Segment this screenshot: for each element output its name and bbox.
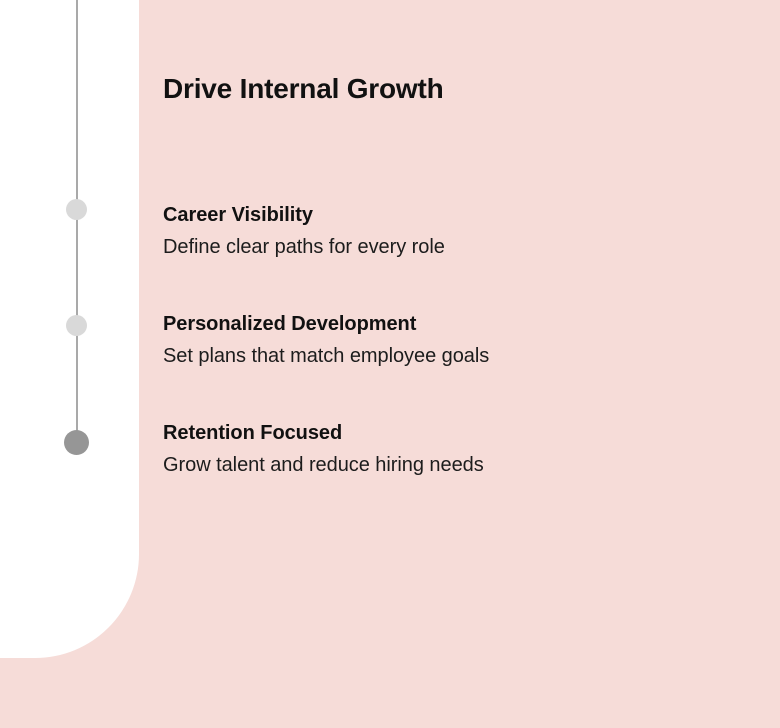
list-item-title: Retention Focused bbox=[163, 418, 763, 448]
page-title: Drive Internal Growth bbox=[163, 73, 444, 105]
list-item-description: Define clear paths for every role bbox=[163, 230, 763, 264]
list-item-title: Personalized Development bbox=[163, 309, 763, 339]
list-item: Personalized Development Set plans that … bbox=[163, 309, 763, 373]
timeline-rail bbox=[76, 0, 78, 443]
list-item-title: Career Visibility bbox=[163, 200, 763, 230]
timeline-node-personalized-development[interactable] bbox=[66, 315, 87, 336]
slide-canvas: Drive Internal Growth Career Visibility … bbox=[0, 0, 780, 728]
timeline-node-retention-focused[interactable] bbox=[64, 430, 89, 455]
list-item: Retention Focused Grow talent and reduce… bbox=[163, 418, 763, 482]
list-item-description: Set plans that match employee goals bbox=[163, 339, 763, 373]
list-item-description: Grow talent and reduce hiring needs bbox=[163, 448, 763, 482]
timeline-node-career-visibility[interactable] bbox=[66, 199, 87, 220]
list-item: Career Visibility Define clear paths for… bbox=[163, 200, 763, 264]
